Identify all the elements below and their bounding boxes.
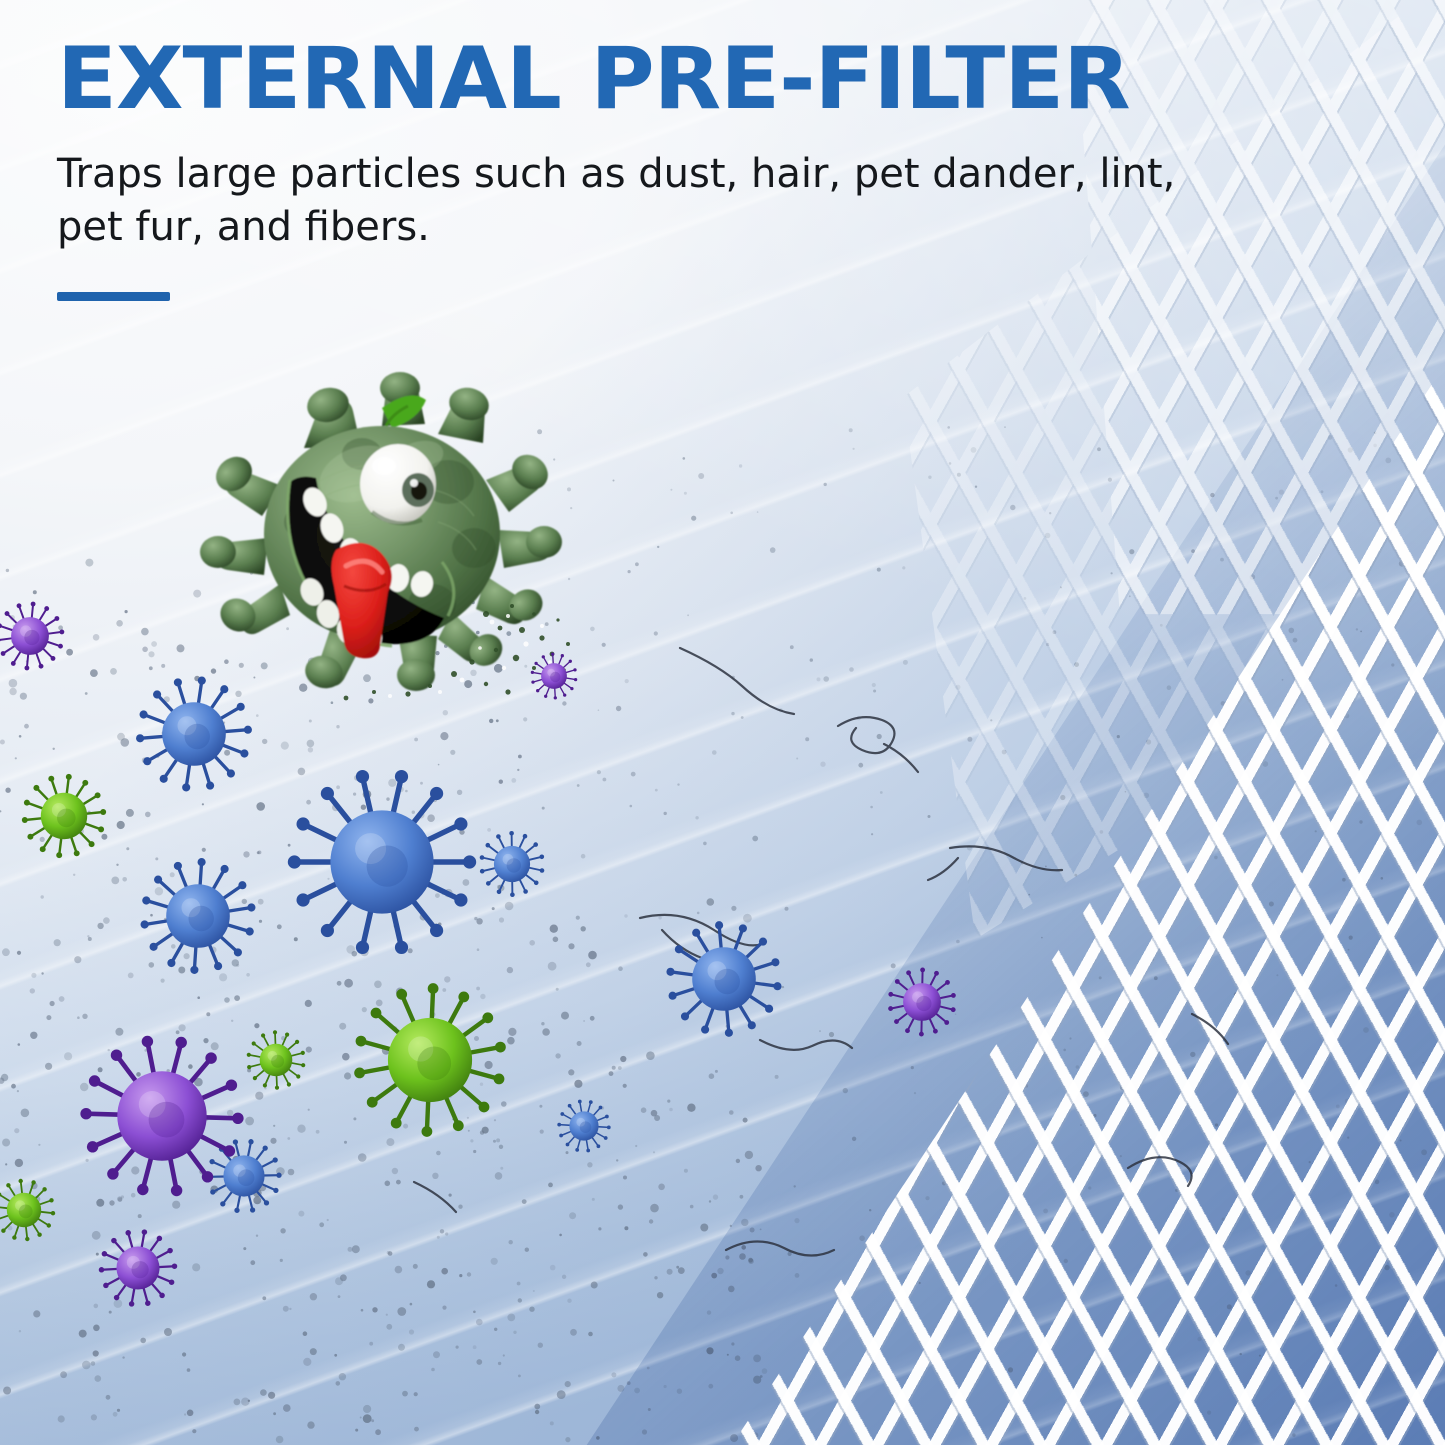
page-title: EXTERNAL PRE-FILTER: [57, 32, 1312, 126]
microbe-blue-small: [470, 822, 554, 906]
microbe-blue-mid-2: [124, 842, 272, 990]
microbe-blue-mesh: [650, 905, 798, 1053]
germ-character: [186, 362, 576, 702]
microbe-green-large: [332, 962, 528, 1158]
prefilter-product-graphic: EXTERNAL PRE-FILTER Traps large particle…: [0, 0, 1445, 1445]
microbe-green-small: [10, 762, 118, 870]
microbe-purple-edge: [0, 592, 74, 680]
microbe-purple-tiny: [524, 646, 584, 706]
microbe-blue-mid: [120, 660, 268, 808]
microbe-blue-tiny: [550, 1092, 618, 1160]
microbe-purple-small: [88, 1218, 188, 1318]
microbe-purple-large: [58, 1012, 266, 1220]
microbe-purple-mesh: [878, 958, 966, 1046]
microbe-green-edge: [0, 1170, 64, 1250]
page-subtitle: Traps large particles such as dust, hair…: [57, 148, 1247, 254]
accent-bar: [57, 292, 170, 301]
microbe-blue-large: [262, 742, 502, 982]
header-block: EXTERNAL PRE-FILTER Traps large particle…: [57, 32, 1287, 301]
